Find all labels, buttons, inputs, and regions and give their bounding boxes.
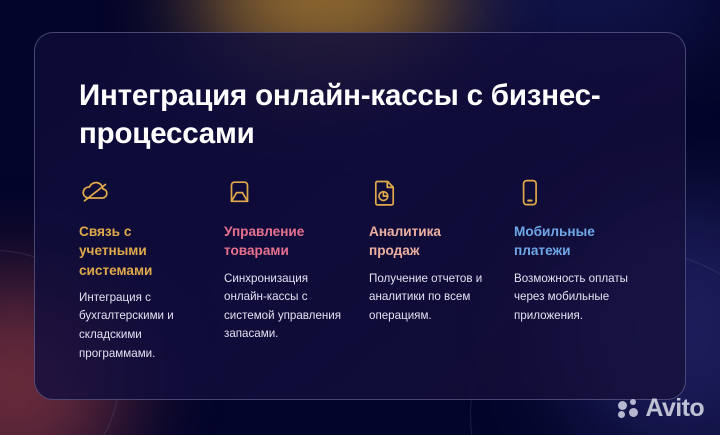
- feature-description: Интеграция с бухгалтерскими и складскими…: [79, 289, 197, 363]
- feature-card: Интеграция онлайн-кассы с бизнес-процесс…: [34, 32, 686, 400]
- file-chart-icon: [369, 177, 487, 213]
- feature-heading: Мобильные платежи: [514, 222, 632, 261]
- feature-description: Синхронизация онлайн-кассы с системой уп…: [224, 270, 342, 344]
- feature-heading: Аналитика продаж: [369, 222, 487, 261]
- feature-heading: Связь с учетными системами: [79, 222, 197, 280]
- feature-description: Получение отчетов и аналитики по всем оп…: [369, 270, 487, 326]
- feature-item-mobile-payments: Мобильные платежи Возможность оплаты чер…: [514, 177, 659, 363]
- cloud-off-icon: [79, 177, 197, 213]
- box-archive-icon: [224, 177, 342, 213]
- feature-item-analytics: Аналитика продаж Получение отчетов и ана…: [369, 177, 514, 363]
- avito-wordmark: Avito: [645, 396, 704, 421]
- avito-watermark: Avito: [618, 396, 704, 421]
- feature-heading: Управление товарами: [224, 222, 342, 261]
- feature-item-integration: Связь с учетными системами Интеграция с …: [79, 177, 224, 363]
- page-title: Интеграция онлайн-кассы с бизнес-процесс…: [79, 77, 659, 154]
- avito-dots-icon: [618, 399, 640, 419]
- smartphone-icon: [514, 177, 632, 213]
- feature-item-goods: Управление товарами Синхронизация онлайн…: [224, 177, 369, 363]
- feature-list: Связь с учетными системами Интеграция с …: [79, 177, 669, 363]
- feature-description: Возможность оплаты через мобильные прило…: [514, 270, 632, 326]
